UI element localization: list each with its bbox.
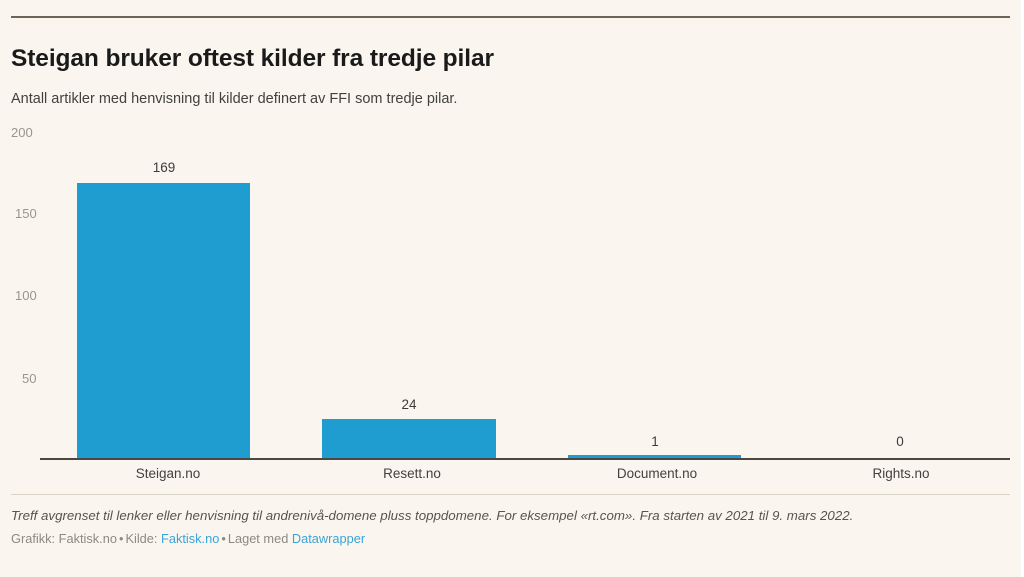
credit-tool-link[interactable]: Datawrapper <box>292 531 365 546</box>
bar-value-document-no: 1 <box>651 434 659 449</box>
credit-source-prefix: Kilde: <box>125 531 157 546</box>
y-tick-label-200: 200 <box>11 125 33 140</box>
bar-value-rights-no: 0 <box>896 434 904 449</box>
credit-graphic: Grafikk: Faktisk.no <box>11 531 117 546</box>
bar-value-steigan-no: 169 <box>153 160 176 175</box>
chart-container: Steigan bruker oftest kilder fra tredje … <box>0 0 1021 577</box>
y-tick-label-100: 100 <box>15 288 37 303</box>
credit-made-with-prefix: Laget med <box>228 531 288 546</box>
chart-credit: Grafikk: Faktisk.no•Kilde: Faktisk.no•La… <box>11 531 365 546</box>
chart-footnote: Treff avgrenset til lenker eller henvisn… <box>11 508 853 523</box>
x-tick-label-document-no: Document.no <box>617 466 697 481</box>
plot-area: 200 150 100 50 169 24 1 0 Steigan.no Res… <box>0 0 1021 577</box>
x-axis-baseline <box>40 458 1010 460</box>
credit-source-link[interactable]: Faktisk.no <box>161 531 219 546</box>
credit-separator-2: • <box>219 531 227 546</box>
x-tick-label-steigan-no: Steigan.no <box>136 466 201 481</box>
x-tick-label-resett-no: Resett.no <box>383 466 441 481</box>
bar-value-resett-no: 24 <box>401 397 416 412</box>
x-tick-label-rights-no: Rights.no <box>872 466 929 481</box>
bar-steigan-no[interactable] <box>77 183 250 458</box>
bar-resett-no[interactable] <box>322 419 496 458</box>
y-tick-label-150: 150 <box>15 206 37 221</box>
y-tick-label-50: 50 <box>22 371 36 386</box>
bottom-divider <box>11 494 1010 495</box>
